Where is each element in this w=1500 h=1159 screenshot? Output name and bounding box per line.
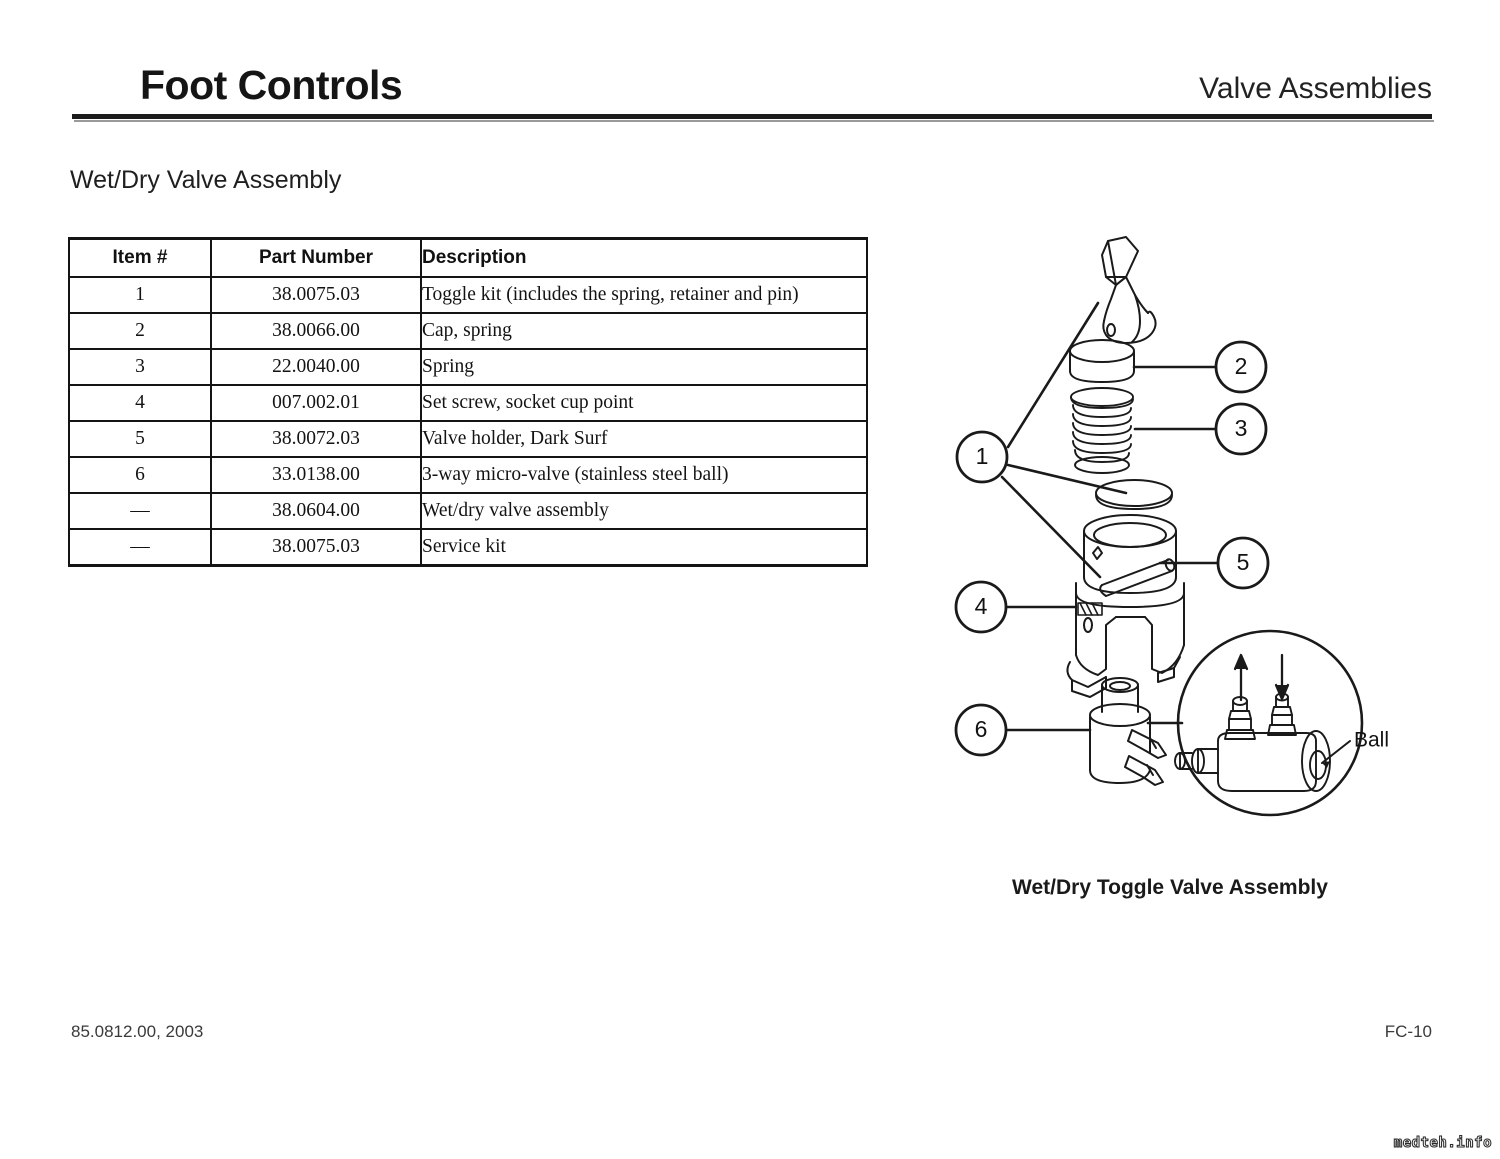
table-header-row: Item # Part Number Description [69,239,867,278]
flow-arrow-up [1235,655,1247,700]
watermark: medteh.info [1394,1135,1492,1151]
parts-table-body: 138.0075.03Toggle kit (includes the spri… [69,277,867,566]
cell-item-number: 1 [69,277,211,313]
table-row: 538.0072.03Valve holder, Dark Surf [69,421,867,457]
part-retainer-ring [1096,480,1172,509]
column-header-description: Description [421,239,867,278]
footer-document-number: 85.0812.00, 2003 [71,1022,203,1042]
detail-view-circle [1178,631,1362,815]
section-title: Wet/Dry Valve Assembly [70,166,341,195]
callout-6: 6 [956,705,1006,755]
footer-page-number: FC-10 [1385,1022,1432,1042]
ball-leader-line [1322,741,1350,763]
cell-item-number: 6 [69,457,211,493]
cell-part-number: 22.0040.00 [211,349,421,385]
part-spring-cap [1070,340,1134,382]
column-header-part-number: Part Number [211,239,421,278]
callout-label-4: 4 [975,593,988,619]
exploded-assembly-diagram: Ball 1 2 3 4 5 [930,225,1410,845]
cell-description: Wet/dry valve assembly [421,493,867,529]
callout-bubbles: 1 2 3 4 5 6 [956,342,1268,755]
part-coil-spring [1071,388,1133,473]
cell-description: Valve holder, Dark Surf [421,421,867,457]
table-row: 633.0138.003-way micro-valve (stainless … [69,457,867,493]
flow-arrow-down [1276,655,1288,699]
cell-item-number: 5 [69,421,211,457]
cell-item-number: 3 [69,349,211,385]
callout-5: 5 [1218,538,1268,588]
table-row: 138.0075.03Toggle kit (includes the spri… [69,277,867,313]
callout-2: 2 [1216,342,1266,392]
header-divider-shadow [74,120,1434,122]
parts-table: Item # Part Number Description 138.0075.… [68,237,868,567]
section-category-title: Valve Assemblies [1199,72,1432,106]
callout-label-5: 5 [1237,549,1250,575]
callout-label-1: 1 [976,443,989,469]
part-valve-holder [1067,515,1184,697]
cell-item-number: — [69,493,211,529]
callout-4: 4 [956,582,1006,632]
callout-1: 1 [957,432,1007,482]
callout-label-6: 6 [975,716,988,742]
table-row: 238.0066.00Cap, spring [69,313,867,349]
parts-table-container: Item # Part Number Description 138.0075.… [68,237,866,567]
part-toggle-lever [1102,237,1156,343]
table-row: —38.0604.00Wet/dry valve assembly [69,493,867,529]
cell-part-number: 007.002.01 [211,385,421,421]
diagram-caption: Wet/Dry Toggle Valve Assembly [930,876,1410,900]
cell-part-number: 38.0075.03 [211,277,421,313]
cell-part-number: 38.0604.00 [211,493,421,529]
assembly-diagram-svg: Ball 1 2 3 4 5 [930,225,1410,845]
part-micro-valve [1090,678,1166,785]
cell-description: 3-way micro-valve (stainless steel ball) [421,457,867,493]
cell-description: Toggle kit (includes the spring, retaine… [421,277,867,313]
detail-view-contents [1175,655,1350,791]
ball-detail [1310,751,1326,779]
cell-description: Set screw, socket cup point [421,385,867,421]
cell-item-number: 2 [69,313,211,349]
cell-description: Cap, spring [421,313,867,349]
column-header-item: Item # [69,239,211,278]
cell-item-number: — [69,529,211,566]
header-divider [72,114,1432,119]
table-row: —38.0075.03Service kit [69,529,867,566]
detail-label-ball: Ball [1354,729,1389,752]
cell-description: Service kit [421,529,867,566]
cell-description: Spring [421,349,867,385]
cell-part-number: 38.0075.03 [211,529,421,566]
table-row: 4007.002.01Set screw, socket cup point [69,385,867,421]
cell-part-number: 33.0138.00 [211,457,421,493]
cell-part-number: 38.0072.03 [211,421,421,457]
table-row: 322.0040.00Spring [69,349,867,385]
callout-label-2: 2 [1235,353,1248,379]
page-header: Foot Controls Valve Assemblies [72,62,1432,122]
callout-label-3: 3 [1235,415,1248,441]
page-title: Foot Controls [140,62,402,109]
cell-item-number: 4 [69,385,211,421]
leader-lines-callout-1 [1002,303,1126,577]
cell-part-number: 38.0066.00 [211,313,421,349]
callout-3: 3 [1216,404,1266,454]
